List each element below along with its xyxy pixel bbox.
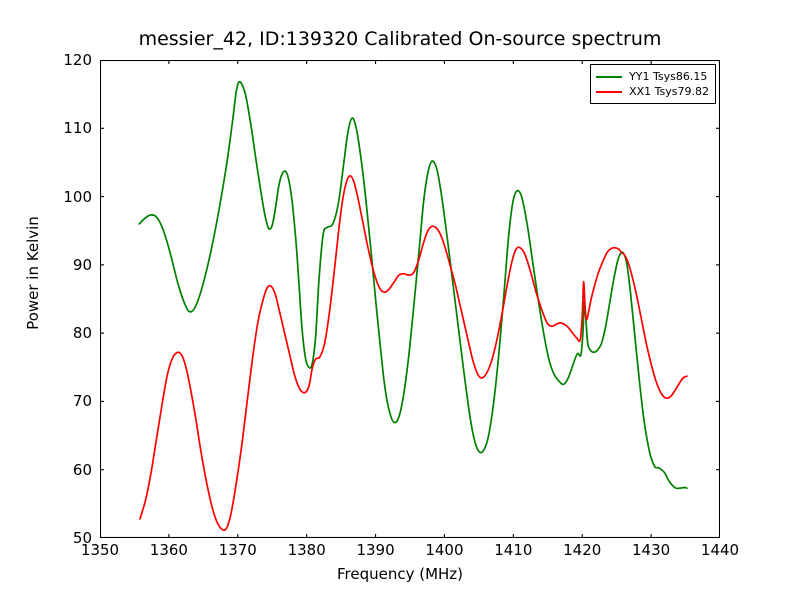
series-line-yy1 [139,82,687,489]
x-tick-label: 1400 [409,541,479,559]
legend-swatch-xx1 [596,91,622,93]
x-tick-label: 1440 [685,541,755,559]
legend-label-xx1: XX1 Tsys79.82 [629,85,709,98]
legend-item: YY1 Tsys86.15 [596,69,709,84]
x-tick-label: 1380 [272,541,342,559]
x-tick-label: 1410 [478,541,548,559]
x-tick-label: 1370 [203,541,273,559]
legend-item: XX1 Tsys79.82 [596,84,709,99]
axes-frame [101,61,720,538]
y-tick-label: 50 [32,529,92,547]
x-tick-label: 1430 [616,541,686,559]
y-axis-label: Power in Kelvin [24,73,42,473]
x-axis-label: Frequency (MHz) [0,565,800,583]
legend-label-yy1: YY1 Tsys86.15 [629,70,707,83]
matplotlib-figure: messier_42, ID:139320 Calibrated On-sour… [0,0,800,600]
plot-area: YY1 Tsys86.15 XX1 Tsys79.82 [100,60,720,538]
axis-ticks [100,60,720,538]
legend-swatch-yy1 [596,76,622,78]
data-series-group [139,82,687,530]
y-tick-label: 120 [32,51,92,69]
x-tick-label: 1420 [547,541,617,559]
series-line-xx1 [140,176,687,530]
spectrum-plot [100,60,720,538]
x-tick-label: 1360 [134,541,204,559]
legend[interactable]: YY1 Tsys86.15 XX1 Tsys79.82 [590,64,716,104]
page-title: messier_42, ID:139320 Calibrated On-sour… [0,28,800,50]
x-tick-label: 1390 [341,541,411,559]
